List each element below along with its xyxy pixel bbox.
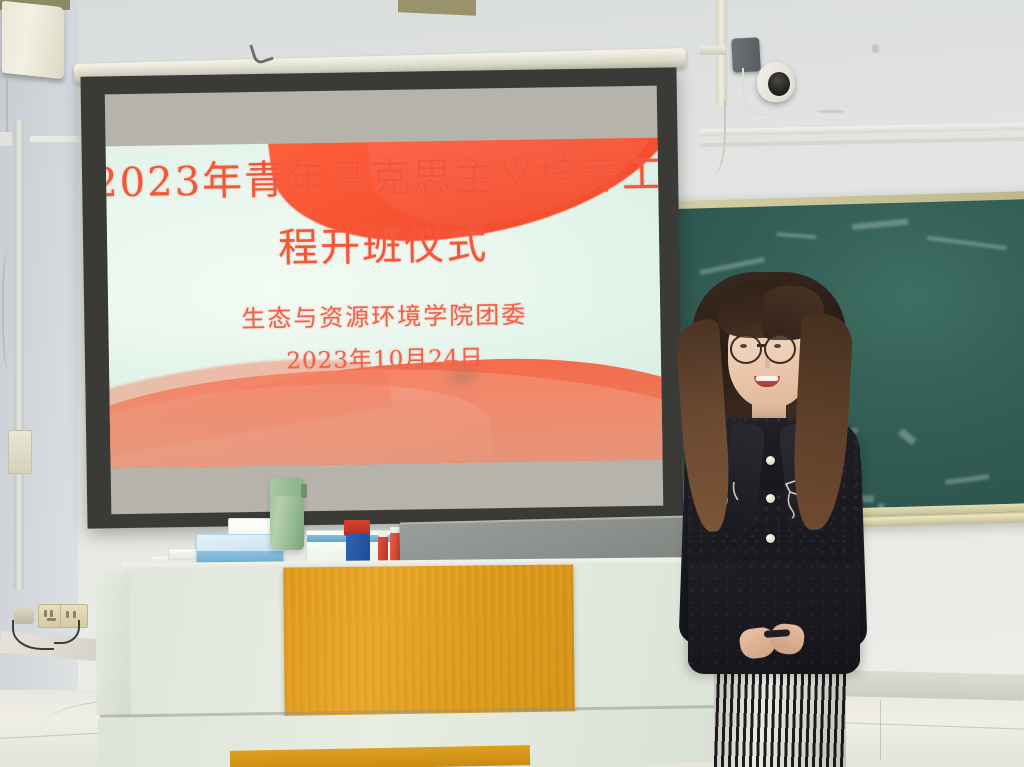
slide-title-line-2: 程开班仪式	[278, 225, 489, 271]
jacket-button	[766, 494, 775, 503]
cable-conduit-bracket	[700, 46, 726, 55]
conduit-junction-box	[8, 430, 32, 474]
red-bottle-1	[378, 536, 388, 562]
slide-text-block: 2023年青年马克思主义培养工 程开班仪式 生态与资源环境学院团委 2023年1…	[106, 138, 663, 469]
wall-air-unit-cord	[6, 78, 8, 136]
green-thermos	[270, 478, 304, 550]
podium-front-panel	[283, 564, 575, 718]
jacket-button	[766, 456, 775, 465]
slide-subtitle-organization: 生态与资源环境学院团委	[241, 295, 528, 334]
conduit-wire	[2, 250, 18, 370]
eyeglasses-bridge	[757, 344, 766, 347]
projection-screen-surface: 2023年青年马克思主义培养工 程开班仪式 生态与资源环境学院团委 2023年1…	[105, 86, 664, 515]
projected-slide: 2023年青年马克思主义培养工 程开班仪式 生态与资源环境学院团委 2023年1…	[106, 138, 663, 469]
wall-mark	[872, 44, 879, 53]
eyeglasses-left-lens	[730, 334, 762, 364]
bottle-cap-icon	[378, 531, 388, 537]
wall-air-unit-plug	[0, 132, 12, 146]
jacket-lower	[688, 562, 860, 674]
wall-air-unit	[2, 1, 64, 80]
thermos-cap	[270, 478, 304, 496]
thermos-clip	[301, 484, 307, 498]
teeth	[756, 376, 778, 381]
projection-screen: 2023年青年马克思主义培养工 程开班仪式 生态与资源环境学院团委 2023年1…	[80, 67, 683, 528]
jacket-button	[766, 534, 775, 543]
slide-title-line-1: 2023年青年马克思主义培养工	[106, 154, 663, 205]
camera-lens-icon	[766, 70, 792, 98]
wall-mark	[818, 110, 844, 113]
presenter	[666, 262, 886, 767]
podium-left-panel	[95, 571, 131, 717]
nose	[765, 358, 770, 368]
projection-smudge	[439, 362, 485, 391]
classroom-photo: 2023年青年马克思主义培养工 程开班仪式 生态与资源环境学院团委 2023年1…	[0, 0, 1024, 767]
